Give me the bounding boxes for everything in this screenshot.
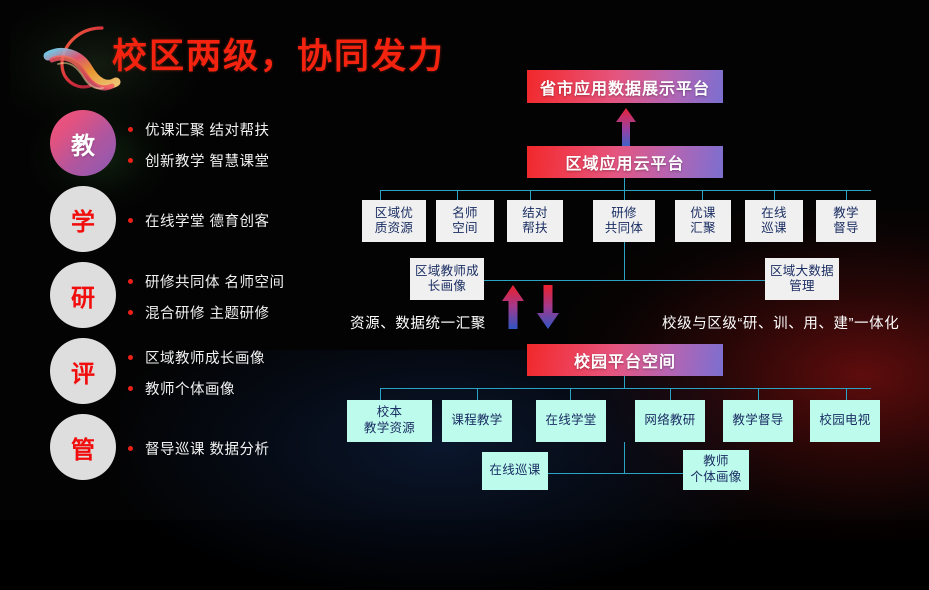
pillar-bullet-line: 优课汇聚 结对帮扶	[128, 119, 360, 140]
node-school-child[interactable]: 校本教学资源	[347, 400, 432, 442]
pillar-line-text: 教师个体画像	[145, 378, 235, 399]
pillar-item-yan: 研 研修共同体 名师空间 混合研修 主题研修	[0, 262, 360, 338]
connector-vertical	[624, 442, 625, 474]
node-school-child[interactable]: 教学督导	[723, 400, 793, 442]
node-region-child[interactable]: 优课汇聚	[675, 200, 731, 242]
bullet-dot-icon	[128, 310, 133, 315]
pillar-badge: 教	[50, 110, 116, 176]
caption-integration: 校级与区级“研、训、用、建”一体化	[662, 312, 899, 333]
connector-drop	[530, 190, 531, 200]
connector-bus	[380, 388, 871, 389]
connector-drop	[846, 190, 847, 200]
pillar-item-guan: 管 督导巡课 数据分析	[0, 414, 360, 490]
node-school-child[interactable]: 校园电视	[810, 400, 880, 442]
pillar-item-jiao: 教 优课汇聚 结对帮扶 创新教学 智慧课堂	[0, 110, 360, 186]
pillar-badge: 管	[50, 414, 116, 480]
node-region-child[interactable]: 区域优质资源	[362, 200, 426, 242]
node-region-child[interactable]: 在线巡课	[745, 200, 803, 242]
connector-drop	[457, 190, 458, 200]
bullet-dot-icon	[128, 127, 133, 132]
pillar-badge: 学	[50, 186, 116, 252]
pillar-bullet-line: 教师个体画像	[128, 378, 360, 399]
pillar-text-group: 优课汇聚 结对帮扶 创新教学 智慧课堂	[128, 119, 360, 175]
connector-drop	[380, 388, 381, 400]
bullet-dot-icon	[128, 386, 133, 391]
connector-drop	[570, 388, 571, 400]
pillar-bullet-line: 创新教学 智慧课堂	[128, 150, 360, 171]
pillar-bullet-line: 混合研修 主题研修	[128, 302, 360, 323]
connector-drop	[702, 190, 703, 200]
bullet-dot-icon	[128, 279, 133, 284]
slide-canvas: 校区两级，协同发力 教 优课汇聚 结对帮扶 创新教学 智慧课堂 学 在	[0, 0, 929, 520]
connector-drop	[758, 388, 759, 400]
pillar-line-text: 督导巡课 数据分析	[145, 438, 270, 459]
architecture-diagram: 省市应用数据展示平台 区域应用云平台 区域优质资源 名师空间 结对	[340, 0, 929, 520]
upward-arrow-icon	[501, 285, 525, 329]
node-school-extra[interactable]: 在线巡课	[482, 452, 548, 490]
bullet-dot-icon	[128, 446, 133, 451]
pillar-bullet-line: 在线学堂 德育创客	[128, 210, 360, 231]
connector-drop	[380, 190, 381, 200]
pillar-item-ping: 评 区域教师成长画像 教师个体画像	[0, 338, 360, 414]
node-school-child[interactable]: 在线学堂	[536, 400, 606, 442]
pillar-badge: 评	[50, 338, 116, 404]
node-region-child[interactable]: 结对帮扶	[507, 200, 563, 242]
connector-bus	[380, 190, 871, 191]
connector-drop	[477, 388, 478, 400]
pillar-bullet-line: 督导巡课 数据分析	[128, 438, 360, 459]
pillar-text-group: 在线学堂 德育创客	[128, 210, 360, 235]
caption-resource-aggregation: 资源、数据统一汇聚	[350, 312, 486, 333]
connector-drop	[846, 388, 847, 400]
node-school-child[interactable]: 课程教学	[442, 400, 512, 442]
pillar-badge: 研	[50, 262, 116, 328]
pillar-bullet-line: 研修共同体 名师空间	[128, 271, 360, 292]
node-region-bigdata[interactable]: 区域大数据管理	[765, 258, 839, 300]
bullet-dot-icon	[128, 355, 133, 360]
connector-drop	[624, 190, 625, 200]
connector-drop	[774, 190, 775, 200]
pillar-text-group: 研修共同体 名师空间 混合研修 主题研修	[128, 271, 360, 327]
node-school-extra[interactable]: 教师个体画像	[683, 450, 749, 490]
bullet-dot-icon	[128, 158, 133, 163]
node-region-child[interactable]: 教学督导	[816, 200, 876, 242]
node-provincial-platform[interactable]: 省市应用数据展示平台	[527, 70, 723, 103]
pillar-line-text: 创新教学 智慧课堂	[145, 150, 270, 171]
connector-drop	[670, 388, 671, 400]
node-region-child[interactable]: 名师空间	[436, 200, 494, 242]
node-region-child[interactable]: 研修共同体	[593, 200, 655, 242]
node-school-platform-space[interactable]: 校园平台空间	[527, 344, 723, 376]
pillar-text-group: 督导巡课 数据分析	[128, 438, 360, 463]
node-region-cloud-platform[interactable]: 区域应用云平台	[527, 146, 723, 178]
pillar-line-text: 区域教师成长画像	[145, 347, 265, 368]
pillar-bullet-line: 区域教师成长画像	[128, 347, 360, 368]
pillar-line-text: 在线学堂 德育创客	[145, 210, 270, 231]
upward-arrow-icon	[615, 108, 637, 146]
pillar-line-text: 优课汇聚 结对帮扶	[145, 119, 270, 140]
node-school-child[interactable]: 网络教研	[635, 400, 705, 442]
node-region-teacher-growth[interactable]: 区域教师成长画像	[410, 258, 484, 300]
pillar-line-text: 混合研修 主题研修	[145, 302, 270, 323]
pillar-line-text: 研修共同体 名师空间	[145, 271, 285, 292]
pillar-text-group: 区域教师成长画像 教师个体画像	[128, 347, 360, 403]
bullet-dot-icon	[128, 218, 133, 223]
connector-vertical	[624, 242, 625, 280]
pillar-list: 教 优课汇聚 结对帮扶 创新教学 智慧课堂 学 在线学堂 德育创客	[0, 110, 360, 490]
downward-arrow-icon	[536, 285, 560, 329]
connector-bus	[479, 280, 769, 281]
pillar-item-xue: 学 在线学堂 德育创客	[0, 186, 360, 262]
